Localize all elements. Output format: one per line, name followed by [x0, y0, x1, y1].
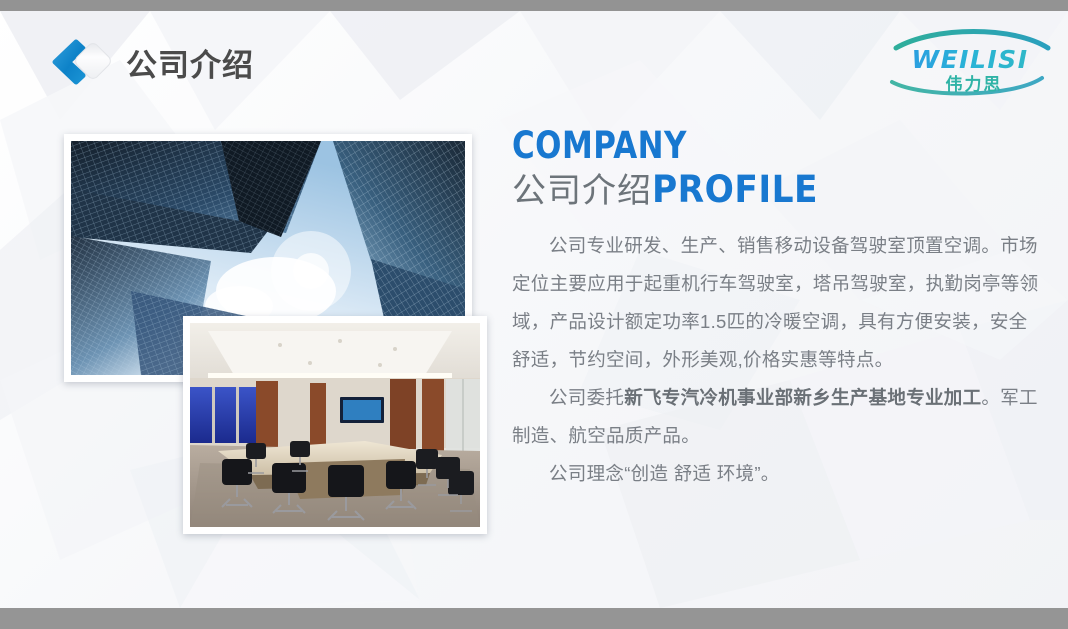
title-profile: PROFILE	[652, 171, 818, 208]
paragraph-2-emphasis: 新飞专汽冷机事业部新乡生产基地专业加工	[624, 387, 981, 408]
company-logo: WEILISI 伟力思	[882, 22, 1058, 100]
content-column: COMPANY 公司介绍PROFILE 公司专业研发、生产、销售移动设备驾驶室顶…	[512, 127, 1042, 493]
page-title: 公司介绍	[126, 40, 254, 85]
logo-chinese-text: 伟力思	[946, 74, 1003, 94]
paragraph-2: 公司委托新飞专汽冷机事业部新乡生产基地专业加工。军工制造、航空品质产品。	[512, 379, 1042, 455]
bottom-gray-bar	[0, 608, 1068, 629]
body-copy: 公司专业研发、生产、销售移动设备驾驶室顶置空调。市场定位主要应用于起重机行车驾驶…	[512, 227, 1042, 493]
slide-header: 公司介绍	[44, 30, 254, 94]
slide-root: 公司介绍 WEILISI 伟力思	[0, 0, 1068, 629]
paragraph-2-prefix: 公司委托	[549, 387, 624, 408]
header-logo-mark	[44, 31, 122, 93]
logo-latin-text: WEILISI	[912, 45, 1029, 74]
paragraph-1: 公司专业研发、生产、销售移动设备驾驶室顶置空调。市场定位主要应用于起重机行车驾驶…	[512, 227, 1042, 379]
photo-conference-room	[183, 316, 487, 534]
paragraph-3: 公司理念“创造 舒适 环境”。	[512, 455, 1042, 493]
title-company: COMPANY	[512, 127, 1005, 164]
conference-room-interior-image	[190, 323, 480, 527]
title-line-2: 公司介绍PROFILE	[512, 171, 1042, 208]
title-company-cn: 公司介绍	[512, 172, 652, 210]
top-gray-bar	[0, 0, 1068, 11]
diamond-icon	[70, 38, 116, 84]
